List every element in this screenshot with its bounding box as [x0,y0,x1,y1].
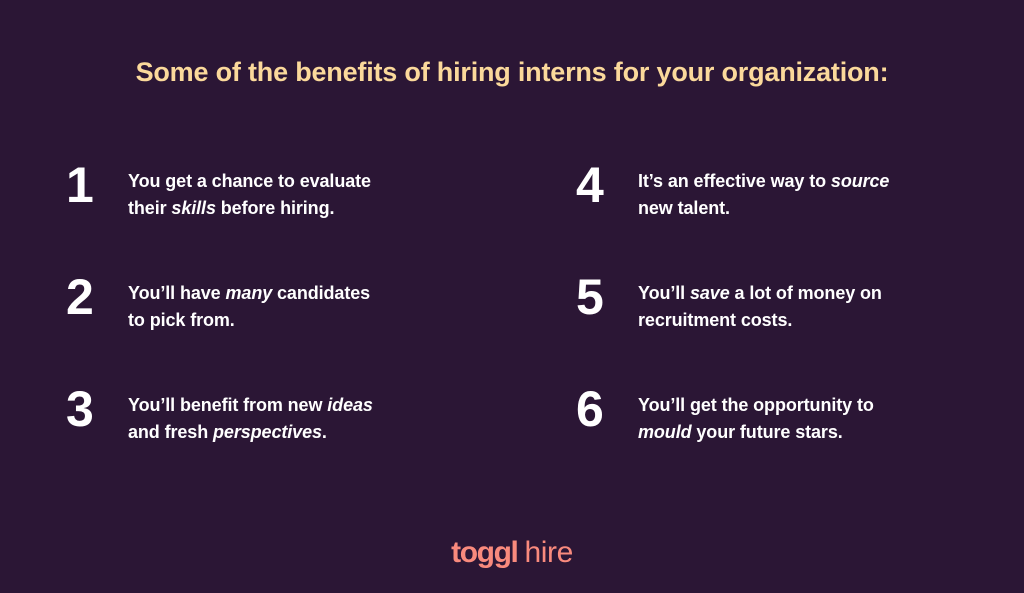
benefit-line-1-emphasis: save [690,283,730,303]
benefit-line-1-before: You’ll benefit from new [128,395,327,415]
benefit-line-2-after: before hiring. [216,198,335,218]
benefit-line-1-emphasis: many [226,283,273,303]
benefit-line-1-before: You’ll get the opportunity to [638,395,874,415]
benefit-line-2-before: and fresh [128,422,213,442]
list-item: 2 You’ll have many candidates to pick fr… [66,272,512,384]
benefit-line-1-after: a lot of money on [730,283,882,303]
benefit-text: You’ll benefit from new ideas and fresh … [128,384,373,447]
benefits-column-left: 1 You get a chance to evaluate their ski… [0,160,512,496]
logo-toggl-wordmark: toggl [451,536,517,569]
benefit-line-2-after: . [322,422,327,442]
slide-canvas: Some of the benefits of hiring interns f… [0,0,1024,593]
benefit-line-1: You’ll get the opportunity to [638,395,874,415]
benefit-line-1: You’ll save a lot of money on [638,283,882,303]
benefit-text: You’ll save a lot of money on recruitmen… [638,272,882,335]
benefit-line-1-after: candidates [272,283,370,303]
benefit-number: 4 [576,162,638,208]
brand-logo: togglhire [0,538,1024,568]
benefit-line-1: It’s an effective way to source [638,171,889,191]
benefit-line-1-emphasis: source [831,171,889,191]
benefit-line-1-before: It’s an effective way to [638,171,831,191]
benefit-line-1-before: You get a chance to evaluate [128,171,371,191]
list-item: 3 You’ll benefit from new ideas and fres… [66,384,512,496]
benefit-line-2: to pick from. [128,310,235,330]
benefit-line-2: recruitment costs. [638,310,792,330]
benefit-line-2-before: recruitment costs. [638,310,792,330]
benefit-text: It’s an effective way to source new tale… [638,160,889,223]
benefit-line-2-after: your future stars. [692,422,843,442]
benefit-line-2-before: their [128,198,171,218]
benefit-line-2-emphasis: perspectives [213,422,322,442]
benefit-number: 6 [576,386,638,432]
list-item: 5 You’ll save a lot of money on recruitm… [576,272,1024,384]
benefit-line-2: and fresh perspectives. [128,422,327,442]
benefit-line-2: mould your future stars. [638,422,843,442]
benefit-line-1: You’ll benefit from new ideas [128,395,373,415]
benefit-line-2-before: new talent. [638,198,730,218]
logo-hire-wordmark: hire [524,536,572,569]
benefit-number: 2 [66,274,128,320]
list-item: 4 It’s an effective way to source new ta… [576,160,1024,272]
benefit-line-2: new talent. [638,198,730,218]
benefit-line-2-before: to pick from. [128,310,235,330]
benefits-column-right: 4 It’s an effective way to source new ta… [512,160,1024,496]
benefit-line-1-emphasis: ideas [327,395,373,415]
list-item: 6 You’ll get the opportunity to mould yo… [576,384,1024,496]
benefit-text: You’ll get the opportunity to mould your… [638,384,874,447]
benefit-line-1: You get a chance to evaluate [128,171,371,191]
benefit-line-2: their skills before hiring. [128,198,334,218]
benefit-text: You’ll have many candidates to pick from… [128,272,370,335]
benefit-line-1-before: You’ll have [128,283,226,303]
benefits-grid: 1 You get a chance to evaluate their ski… [0,160,1024,496]
page-title: Some of the benefits of hiring interns f… [0,56,1024,88]
benefit-line-2-emphasis: mould [638,422,692,442]
list-item: 1 You get a chance to evaluate their ski… [66,160,512,272]
benefit-text: You get a chance to evaluate their skill… [128,160,371,223]
benefit-number: 5 [576,274,638,320]
benefit-line-2-emphasis: skills [171,198,215,218]
benefit-line-1: You’ll have many candidates [128,283,370,303]
benefit-number: 1 [66,162,128,208]
benefit-number: 3 [66,386,128,432]
benefit-line-1-before: You’ll [638,283,690,303]
